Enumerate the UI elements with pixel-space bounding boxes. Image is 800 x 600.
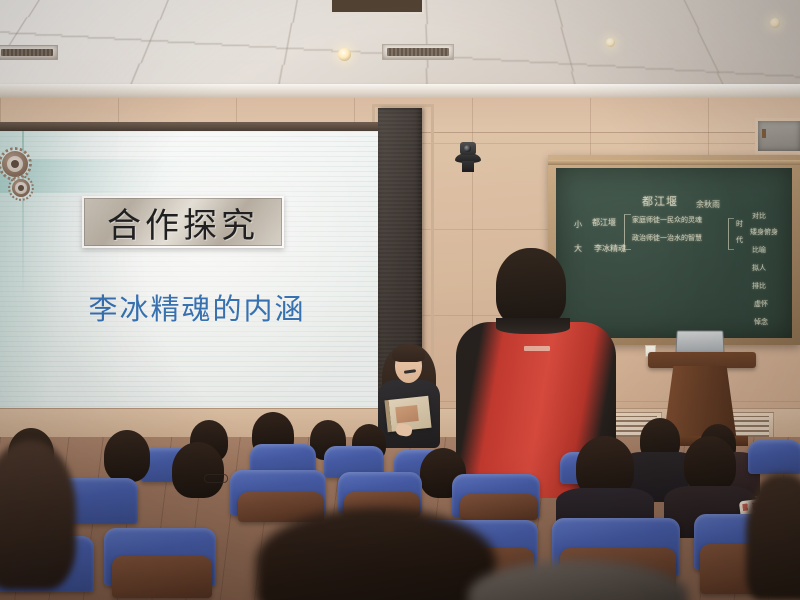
blackboard-marker-small: 小 [574,220,582,229]
ceiling-opening [330,0,424,14]
blackboard-right-4: 拟人 [752,264,766,272]
standing-student-head [496,248,566,326]
ceiling [0,0,800,92]
blackboard-right-3: 比喻 [752,246,766,254]
student-head [172,442,224,498]
ceiling-vent [382,44,454,60]
blackboard-bracket-tail-1: 时 [736,220,743,228]
blackboard-right-5: 排比 [752,282,766,290]
projection-screen-housing [0,122,378,131]
blackboard-note-small: 都江堰 [592,218,616,227]
blackboard-right-6: 虚怀 [754,300,768,308]
seat-back-wood [460,494,538,520]
glasses-icon [204,474,228,483]
blackboard-author: 余秋雨 [696,200,720,209]
blackboard-right-1: 对比 [752,212,766,220]
classroom-photo: 都江堰 余秋雨 小 都江堰 大 李冰精魂 家庭师徒一民众的灵魂 政治师徒一治水的… [0,0,800,600]
blackboard-right-2: 矮身俯身 [750,228,778,236]
podium-top [648,352,756,368]
teacher-fringe [392,346,425,362]
slide-subtitle: 李冰精魂的内涵 [72,286,322,328]
camera-mount [462,161,474,172]
slide-title-box: 合作探究 [82,196,284,248]
projection-screen [0,131,378,437]
blackboard-bracket-line-1: 家庭师徒一民众的灵魂 [632,216,702,224]
blackboard-right-7: 悼念 [754,318,768,326]
gear-icon [12,179,30,197]
student-head [104,430,150,482]
blackboard-bracket-tail [728,218,734,250]
slide-title: 合作探究 [107,198,259,247]
standing-student-collar [496,318,570,334]
seat[interactable] [748,440,800,474]
student-head [684,436,736,492]
blackboard-bracket [624,214,631,250]
camera-lens [464,145,471,152]
blackboard-bracket-tail-2: 代 [736,236,743,244]
foreground-person-head [0,440,76,590]
ceiling-downlight [338,48,351,61]
gear-icon [2,151,28,177]
wall-speaker-panel [755,118,800,154]
blackboard-bracket-line-2: 政治师徒一治水的智慧 [632,234,702,242]
ceiling-downlight [606,38,615,47]
blackboard-top-rail [548,160,800,165]
ceiling-downlight [770,18,780,28]
blackboard-title: 都江堰 [642,196,678,209]
jacket-logo [524,346,550,351]
foreground-person-head [746,474,800,600]
ptz-camera-icon [455,142,481,172]
projector-glow [0,131,378,437]
ceiling-vent [0,45,58,60]
seat-back-wood [112,556,212,598]
